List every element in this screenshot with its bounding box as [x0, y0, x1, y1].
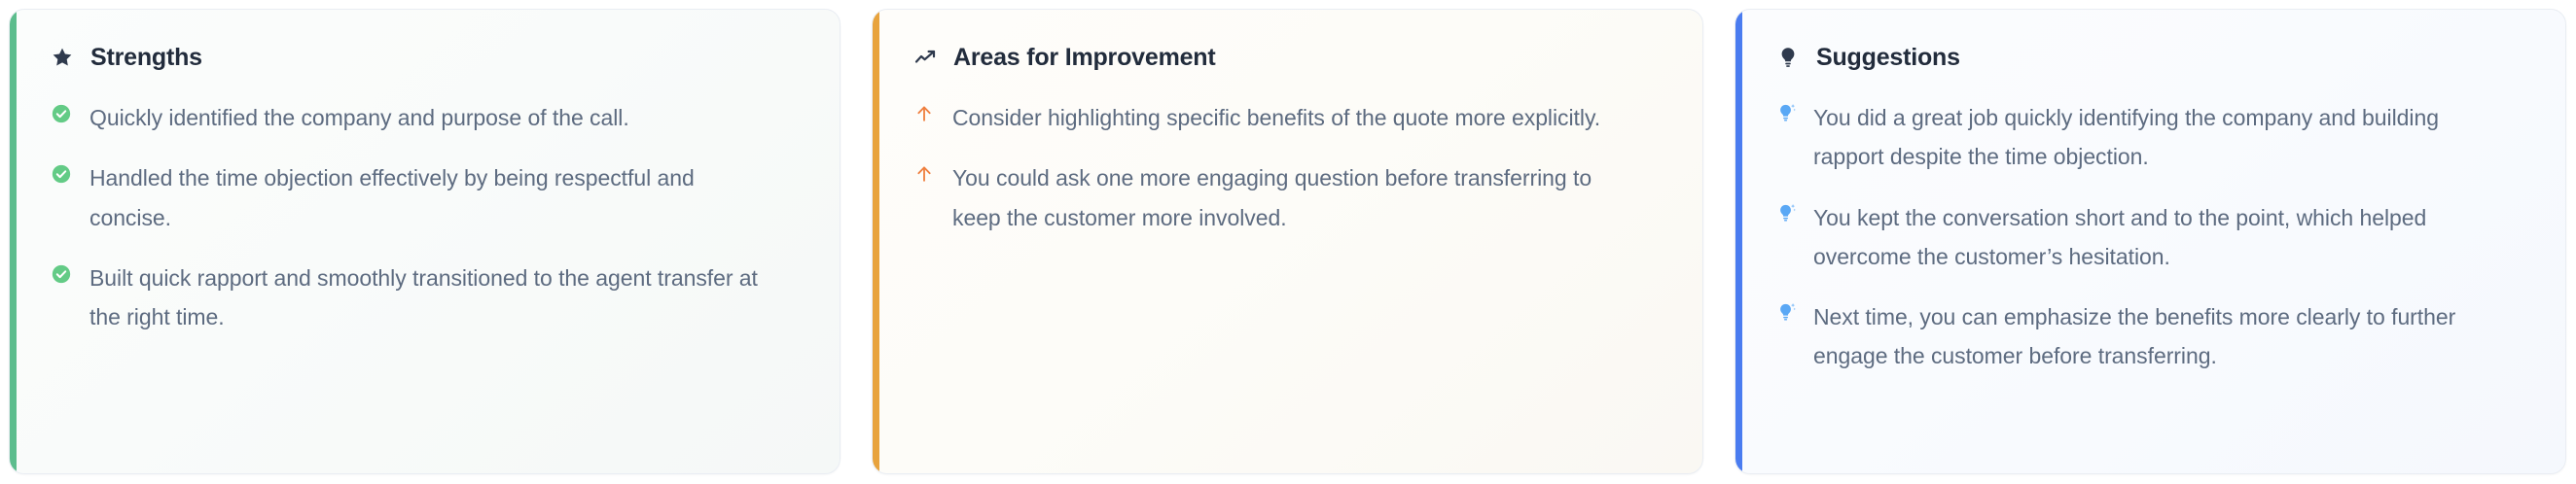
lightbulb-sparkle-icon [1775, 101, 1799, 124]
star-icon [50, 45, 75, 70]
suggestions-list: You did a great job quickly identifying … [1775, 98, 2532, 376]
list-item: You kept the conversation short and to t… [1775, 198, 2532, 277]
list-item-text: You did a great job quickly identifying … [1813, 98, 2514, 177]
arrow-up-icon [912, 102, 936, 125]
list-item: You did a great job quickly identifying … [1775, 98, 2532, 177]
improvement-list: Consider highlighting specific benefits … [912, 98, 1669, 237]
areas-for-improvement-card: Areas for Improvement Consider highlight… [872, 9, 1703, 474]
strengths-card-title: Strengths [90, 43, 202, 72]
suggestions-card-header: Suggestions [1775, 43, 2532, 72]
lightbulb-sparkle-icon [1775, 300, 1799, 324]
check-circle-icon [50, 102, 73, 125]
lightbulb-sparkle-icon [1775, 201, 1799, 225]
suggestions-card-title: Suggestions [1816, 43, 1960, 72]
list-item-text: Quickly identified the company and purpo… [89, 98, 629, 137]
list-item: Quickly identified the company and purpo… [50, 98, 806, 137]
improvement-card-header: Areas for Improvement [912, 43, 1669, 72]
list-item-text: You could ask one more engaging question… [952, 158, 1633, 237]
check-circle-icon [50, 162, 73, 186]
list-item-text: You kept the conversation short and to t… [1813, 198, 2514, 277]
feedback-cards-board: Strengths Quickly identified the company… [0, 0, 2576, 484]
strengths-card-header: Strengths [50, 43, 806, 72]
check-circle-icon [50, 262, 73, 286]
strengths-card: Strengths Quickly identified the company… [9, 9, 841, 474]
arrow-up-icon [912, 162, 936, 186]
lightbulb-icon [1775, 45, 1801, 70]
list-item-text: Consider highlighting specific benefits … [952, 98, 1600, 137]
strengths-list: Quickly identified the company and purpo… [50, 98, 806, 336]
list-item-text: Built quick rapport and smoothly transit… [89, 259, 761, 337]
list-item: Next time, you can emphasize the benefit… [1775, 297, 2532, 376]
improvement-card-title: Areas for Improvement [953, 43, 1216, 72]
list-item-text: Handled the time objection effectively b… [89, 158, 761, 237]
list-item-text: Next time, you can emphasize the benefit… [1813, 297, 2514, 376]
list-item: Consider highlighting specific benefits … [912, 98, 1669, 137]
suggestions-card: Suggestions You did a great job quickly … [1735, 9, 2566, 474]
list-item: Built quick rapport and smoothly transit… [50, 259, 806, 337]
list-item: Handled the time objection effectively b… [50, 158, 806, 237]
list-item: You could ask one more engaging question… [912, 158, 1669, 237]
trending-up-icon [912, 45, 938, 70]
